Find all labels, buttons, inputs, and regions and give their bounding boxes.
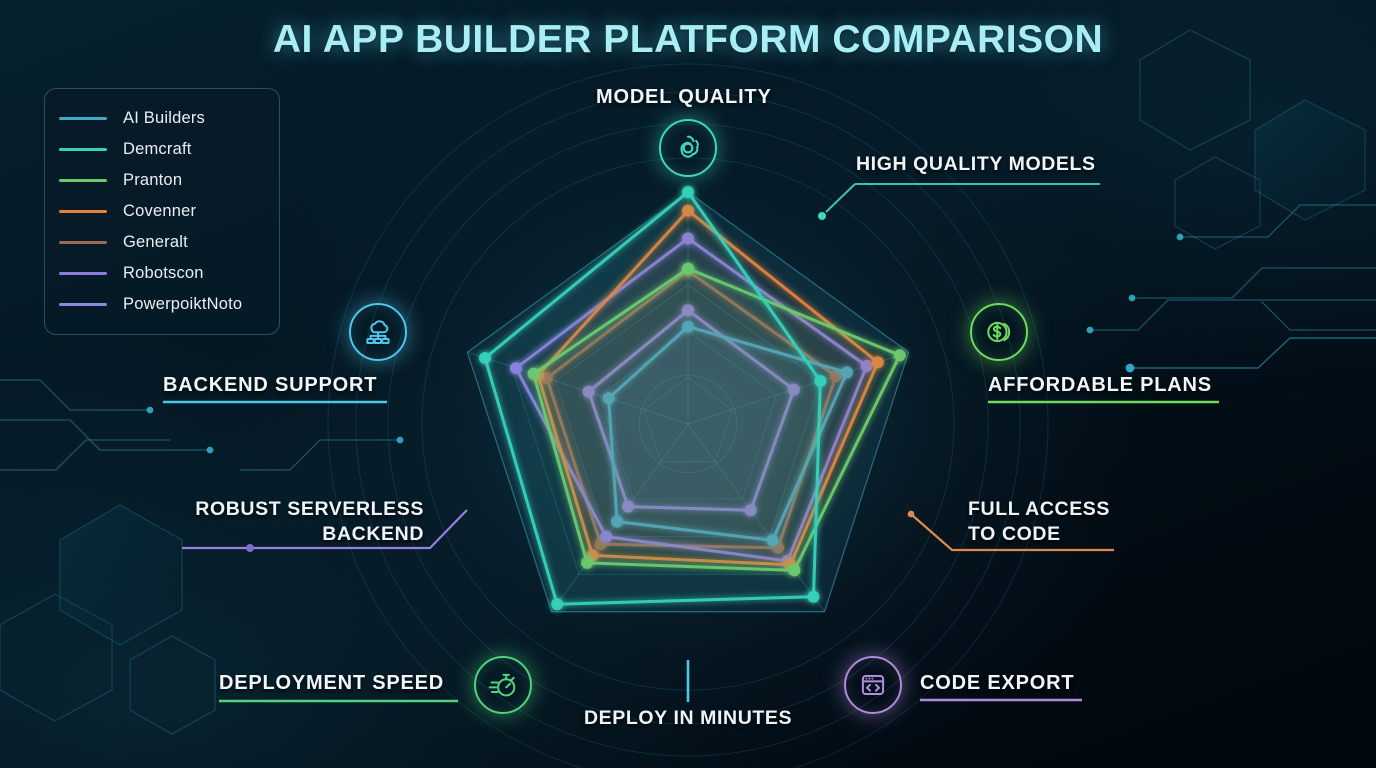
callout-full-access-to-code: FULL ACCESS TO CODE (968, 497, 1110, 547)
dollar-coin-icon-badge (970, 303, 1028, 361)
stopwatch-icon-badge (474, 656, 532, 714)
callout-line-2: TO CODE (968, 522, 1110, 547)
callout-line-2: BACKEND (184, 522, 424, 547)
openai-logo-icon-badge (659, 119, 717, 177)
infographic-canvas: AI APP BUILDER PLATFORM COMPARISON AI Bu… (0, 0, 1376, 768)
axis-caption-backend-support: BACKEND SUPPORT (163, 374, 377, 397)
callout-line-1: ROBUST SERVERLESS (184, 497, 424, 522)
code-window-icon (856, 668, 890, 702)
callout-robust-serverless-backend: ROBUST SERVERLESS BACKEND (184, 497, 424, 547)
stopwatch-icon (486, 668, 520, 702)
code-window-icon-badge (844, 656, 902, 714)
callout-line-1: FULL ACCESS (968, 497, 1110, 522)
cloud-network-icon-badge (349, 303, 407, 361)
axis-caption-code-export: CODE EXPORT (920, 672, 1074, 695)
axis-caption-model-quality: MODEL QUALITY (596, 86, 772, 109)
openai-logo-icon (671, 131, 705, 165)
axis-caption-affordable-plans: AFFORDABLE PLANS (988, 374, 1212, 397)
callout-deploy-in-minutes: DEPLOY IN MINUTES (584, 706, 792, 731)
dollar-coin-icon (982, 315, 1016, 349)
cloud-network-icon (360, 314, 396, 350)
axis-caption-deployment-speed: DEPLOYMENT SPEED (219, 672, 444, 695)
callout-high-quality-models: HIGH QUALITY MODELS (856, 152, 1096, 177)
